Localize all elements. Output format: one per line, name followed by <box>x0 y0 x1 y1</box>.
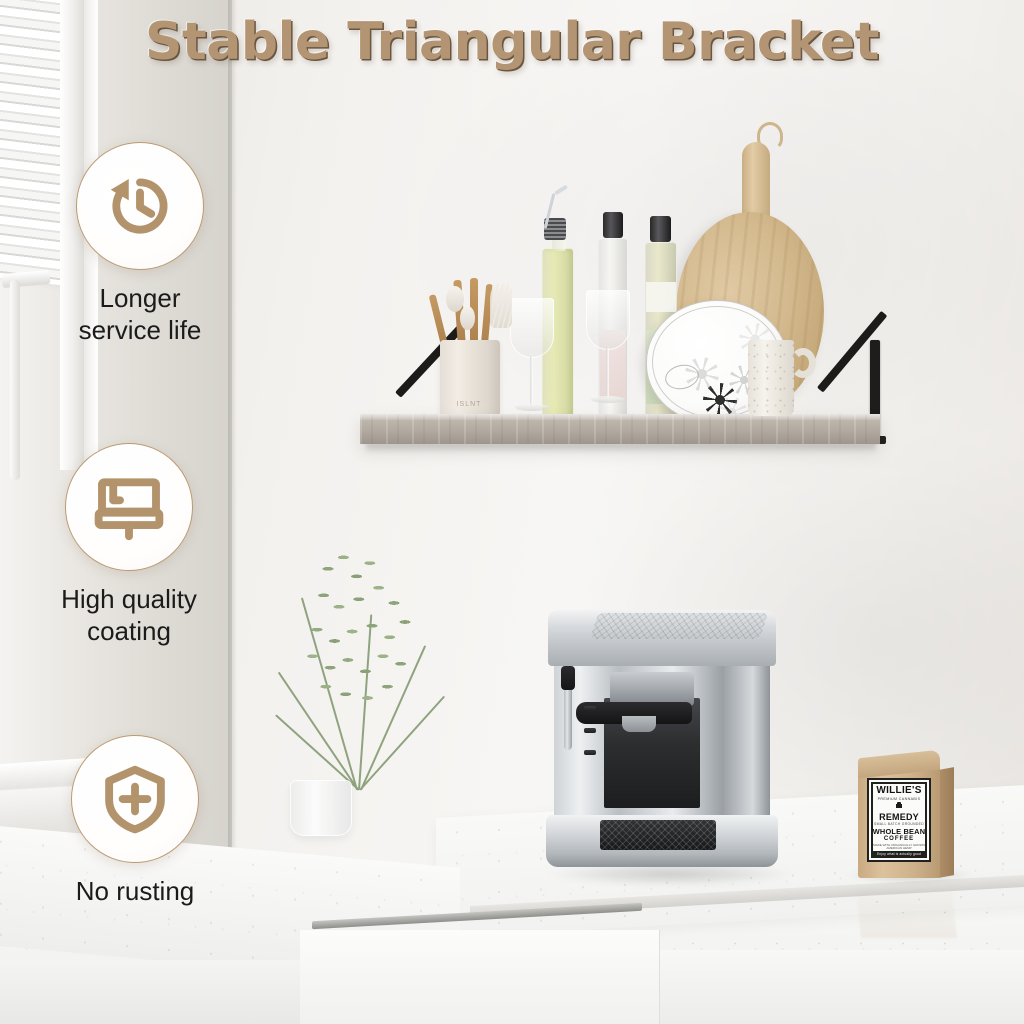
glass-vase <box>290 780 352 836</box>
shelf-board <box>360 414 880 444</box>
coffee-product-line: REMEDY <box>879 813 919 822</box>
vinegar-bottle-cap <box>603 212 623 238</box>
feature-label: Longer service life <box>35 283 245 346</box>
coffee-bag-reflection <box>855 880 957 938</box>
coffee-bag-gusset <box>938 767 954 878</box>
feature-icon-circle <box>76 142 204 270</box>
cup-warming-grill <box>590 613 768 639</box>
feature-label-line1: No rusting <box>30 876 240 908</box>
coffee-type-line: WHOLE BEAN <box>873 828 926 836</box>
shelf-underside-shadow <box>366 443 876 453</box>
espresso-group-head <box>610 672 694 706</box>
shield-plus-icon <box>99 763 171 835</box>
coffee-fine-print: MADE WITH ORGANICALLY GROWN AMERICAN HEM… <box>872 844 926 852</box>
wine-glass-bowl <box>586 290 630 350</box>
feature-label: No rusting <box>30 876 240 908</box>
wine-glass <box>586 290 632 418</box>
wine-glass-foot <box>591 396 625 403</box>
olive-oil-bottle-label-top <box>646 282 676 312</box>
coffee-word: COFFEE <box>884 836 914 842</box>
espresso-machine-top <box>548 610 776 666</box>
utensil-crock: ISLNT <box>440 340 500 418</box>
espresso-machine <box>540 610 785 875</box>
foliage-cluster <box>306 546 416 736</box>
wine-glass-stem <box>606 348 609 398</box>
cabinet-door-right <box>660 950 1024 1024</box>
portafilter-spout <box>622 716 656 732</box>
feature-label-line1: High quality <box>24 584 234 616</box>
feature-label-line2: coating <box>24 616 234 648</box>
feature-high-quality-coating[interactable]: High quality coating <box>24 443 234 647</box>
coffee-product-subtitle: SMALL BATCH GROUNDED <box>874 822 924 826</box>
mug-speckle-texture <box>748 340 794 416</box>
feature-label: High quality coating <box>24 584 234 647</box>
coffee-label-footer: Enjoy what is actually good <box>872 851 926 857</box>
feature-label-line1: Longer <box>35 283 245 315</box>
blind-wand <box>10 280 20 480</box>
feature-label-line2: service life <box>35 315 245 347</box>
whisk-wires <box>492 284 512 328</box>
feature-longer-service-life[interactable]: Longer service life <box>35 142 245 346</box>
cabinet-door-front <box>300 930 660 1024</box>
ceramic-mug <box>748 340 794 416</box>
drip-tray-grate <box>600 820 716 850</box>
silicone-spoon-head <box>446 286 464 312</box>
steam-wand-knob[interactable] <box>561 666 575 690</box>
wine-glass-foot <box>515 404 549 411</box>
silicone-spoon-head <box>460 306 475 330</box>
coffee-bag: WILLIE'S PREMIUM CANNABIS REMEDY SMALL B… <box>858 744 954 878</box>
olive-branch-arrangement <box>300 540 420 790</box>
paint-brush-icon <box>93 471 165 543</box>
wine-glass-stem <box>530 356 533 406</box>
feature-no-rusting[interactable]: No rusting <box>30 735 240 908</box>
olive-oil-bottle-cap <box>650 216 671 242</box>
feature-icon-circle <box>65 443 193 571</box>
shelf-edge-highlight <box>360 414 880 421</box>
feature-icon-circle <box>71 735 199 863</box>
coffee-brand-name: WILLIE'S <box>876 786 921 796</box>
coffee-brand-subtitle: PREMIUM CANNABIS <box>878 797 921 801</box>
coffee-logo-figure-icon <box>896 802 902 812</box>
utensil-crock-label: ISLNT <box>449 399 489 410</box>
espresso-control-buttons[interactable] <box>584 706 596 768</box>
history-clock-icon <box>104 170 176 242</box>
coffee-bag-label: WILLIE'S PREMIUM CANNABIS REMEDY SMALL B… <box>867 778 931 862</box>
page-title: Stable Triangular Bracket <box>0 12 1024 72</box>
cabinet-left <box>0 960 310 1024</box>
